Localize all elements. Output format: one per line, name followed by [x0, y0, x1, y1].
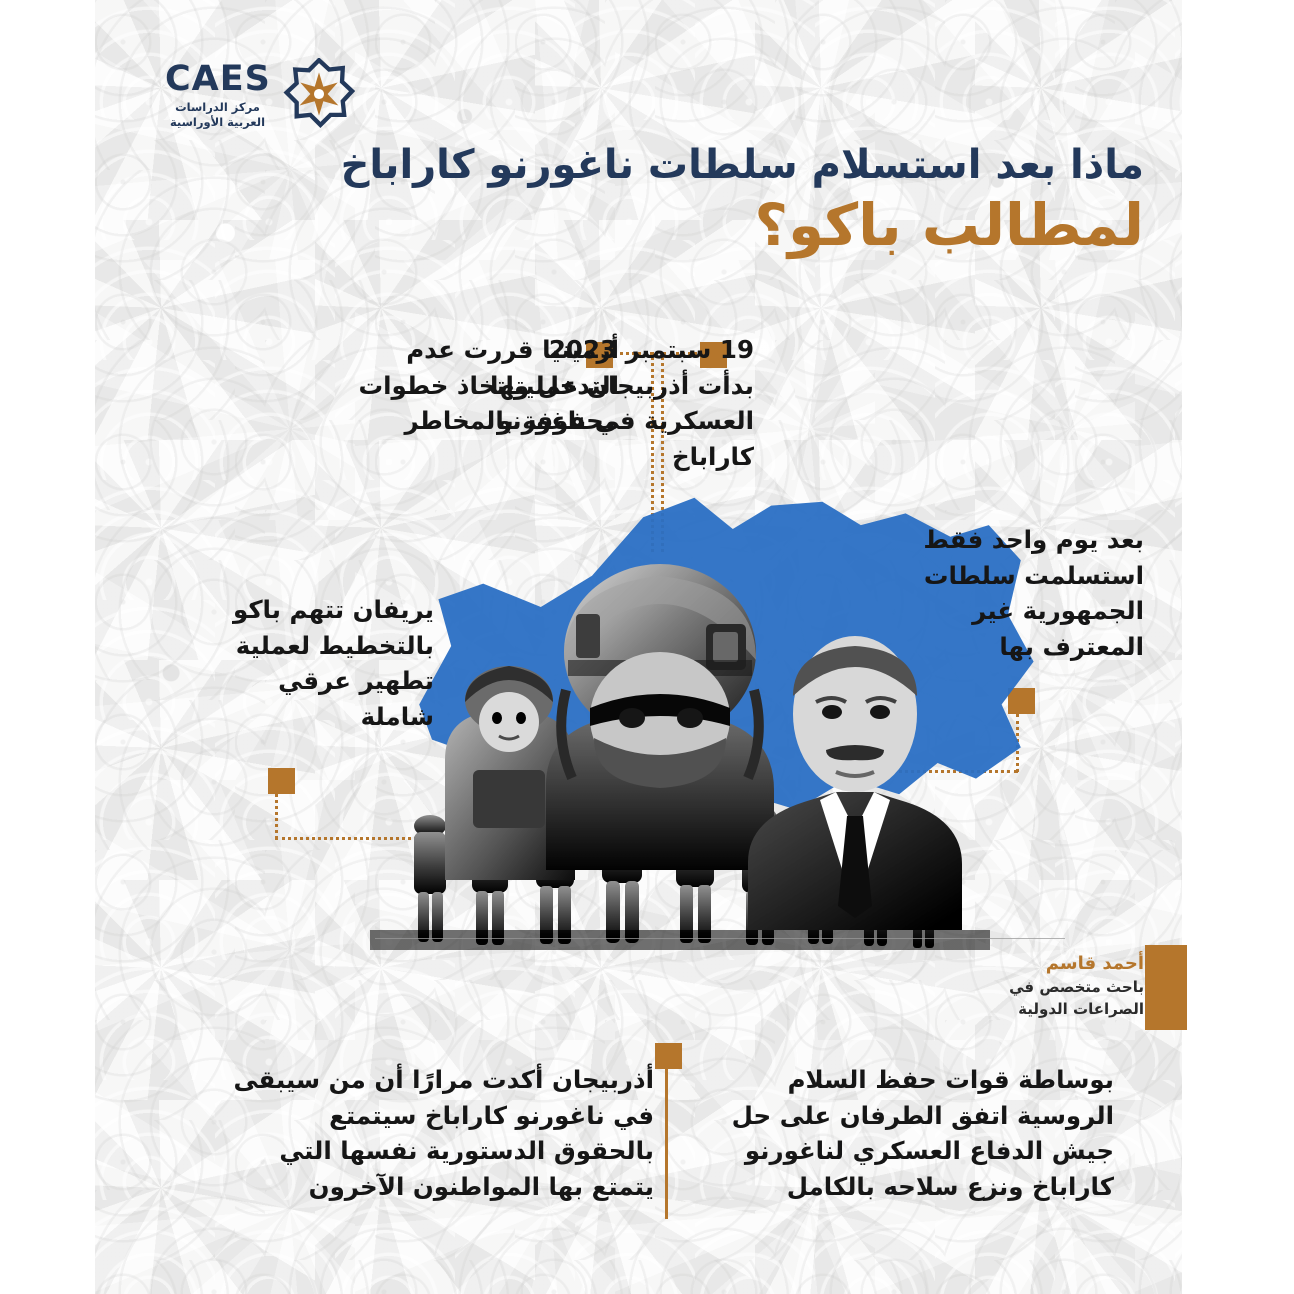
logo-wordmark: CAES مركز الدراسات العربية الأوراسية: [165, 62, 270, 129]
author-name: أحمد قاسم: [844, 952, 1144, 975]
logo-subtitle: مركز الدراسات العربية الأوراسية: [165, 100, 270, 129]
page-title: ماذا بعد استسلام سلطات ناغورنو كاراباخ ل…: [244, 140, 1144, 259]
connector-yerevan-vertical: [275, 794, 278, 839]
author-role: باحث متخصص في الصراعات الدولية: [844, 977, 1144, 1021]
connector-bottom-stem: [665, 1069, 668, 1219]
logo-caes-text: CAES: [165, 62, 270, 97]
author-role-line2: الصراعات الدولية: [844, 999, 1144, 1021]
headline-line-2: لمطالب باكو؟: [244, 192, 1144, 259]
author-accent-bar: [1145, 945, 1187, 1030]
callout-surrender: بعد يوم واحد فقط استسلمت سلطات الجمهورية…: [864, 522, 1144, 664]
bullet-bottom-divider: [655, 1043, 682, 1069]
infographic-canvas: CAES مركز الدراسات العربية الأوراسية ماذ…: [0, 0, 1294, 1294]
logo-subtitle-line1: مركز الدراسات: [165, 100, 270, 115]
caes-logo[interactable]: CAES مركز الدراسات العربية الأوراسية: [165, 58, 355, 143]
callout-russia-mediation: بوساطة قوات حفظ السلام الروسية اتفق الطر…: [694, 1062, 1114, 1204]
author-role-line1: باحث متخصص في: [844, 977, 1144, 999]
logo-subtitle-line2: العربية الأوراسية: [165, 115, 270, 130]
callout-azerbaijan-rights: أذربيجان أكدت مرارًا أن من سيبقى في ناغو…: [224, 1062, 654, 1204]
callout-date-operation: 19 سبتمبر 2023 بدأت أذربيجان عمليتها الع…: [489, 332, 754, 474]
horizontal-divider: [375, 938, 1065, 939]
bullet-yerevan: [268, 768, 295, 794]
eight-pointed-star-icon: [283, 58, 355, 130]
headline-line-1: ماذا بعد استسلام سلطات ناغورنو كاراباخ: [244, 140, 1144, 190]
author-credit: أحمد قاسم باحث متخصص في الصراعات الدولية: [844, 952, 1144, 1021]
callout-yerevan: يريفان تتهم باكو بالتخطيط لعملية تطهير ع…: [204, 592, 434, 734]
